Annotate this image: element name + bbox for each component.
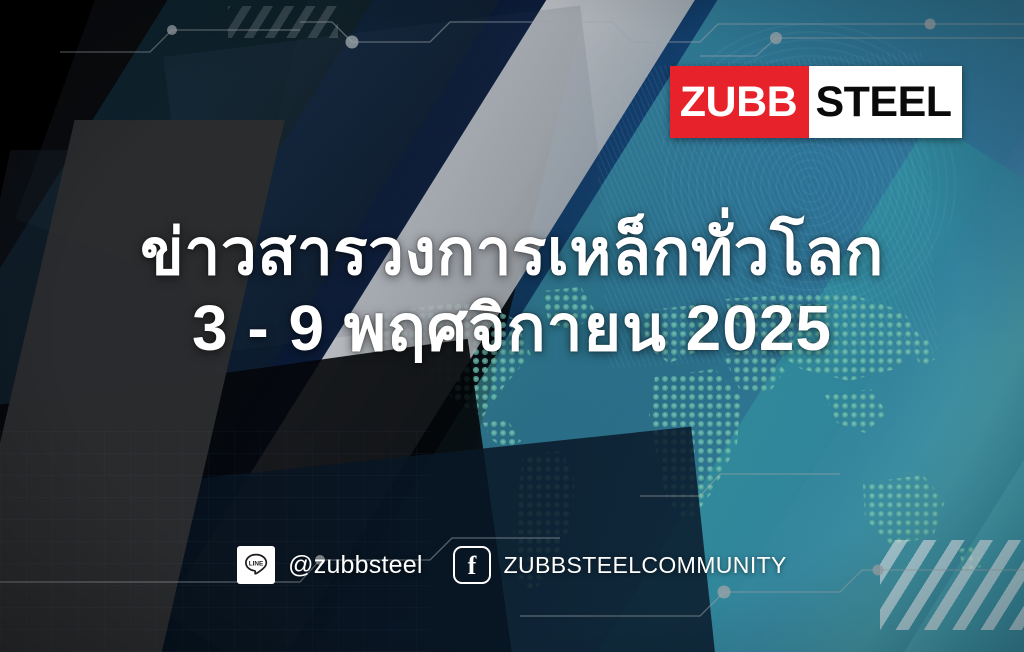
- line-icon[interactable]: LINE: [237, 546, 275, 584]
- social-footer: LINE @zubbsteel f ZUBBSTEELCOMMUNITY: [0, 546, 1024, 584]
- social-item-line[interactable]: LINE @zubbsteel: [237, 546, 422, 584]
- line-handle-label: @zubbsteel: [288, 551, 422, 580]
- headline-block: ข่าวสารวงการเหล็กทั่วโลก 3 - 9 พฤศจิกายน…: [0, 218, 1024, 365]
- headline-line-1: ข่าวสารวงการเหล็กทั่วโลก: [0, 218, 1024, 287]
- svg-text:f: f: [467, 552, 476, 578]
- zubbsteel-logo: ZUBB STEEL: [670, 66, 962, 138]
- logo-zubb-text: ZUBB: [670, 66, 809, 138]
- logo-steel-text: STEEL: [809, 66, 962, 138]
- svg-text:LINE: LINE: [249, 561, 264, 568]
- facebook-page-label: ZUBBSTEELCOMMUNITY: [504, 552, 787, 579]
- headline-line-2: 3 - 9 พฤศจิกายน 2025: [0, 293, 1024, 365]
- facebook-icon[interactable]: f: [453, 546, 491, 584]
- news-banner: ZUBB STEEL ข่าวสารวงการเหล็กทั่วโลก 3 - …: [0, 0, 1024, 652]
- social-item-facebook[interactable]: f ZUBBSTEELCOMMUNITY: [453, 546, 787, 584]
